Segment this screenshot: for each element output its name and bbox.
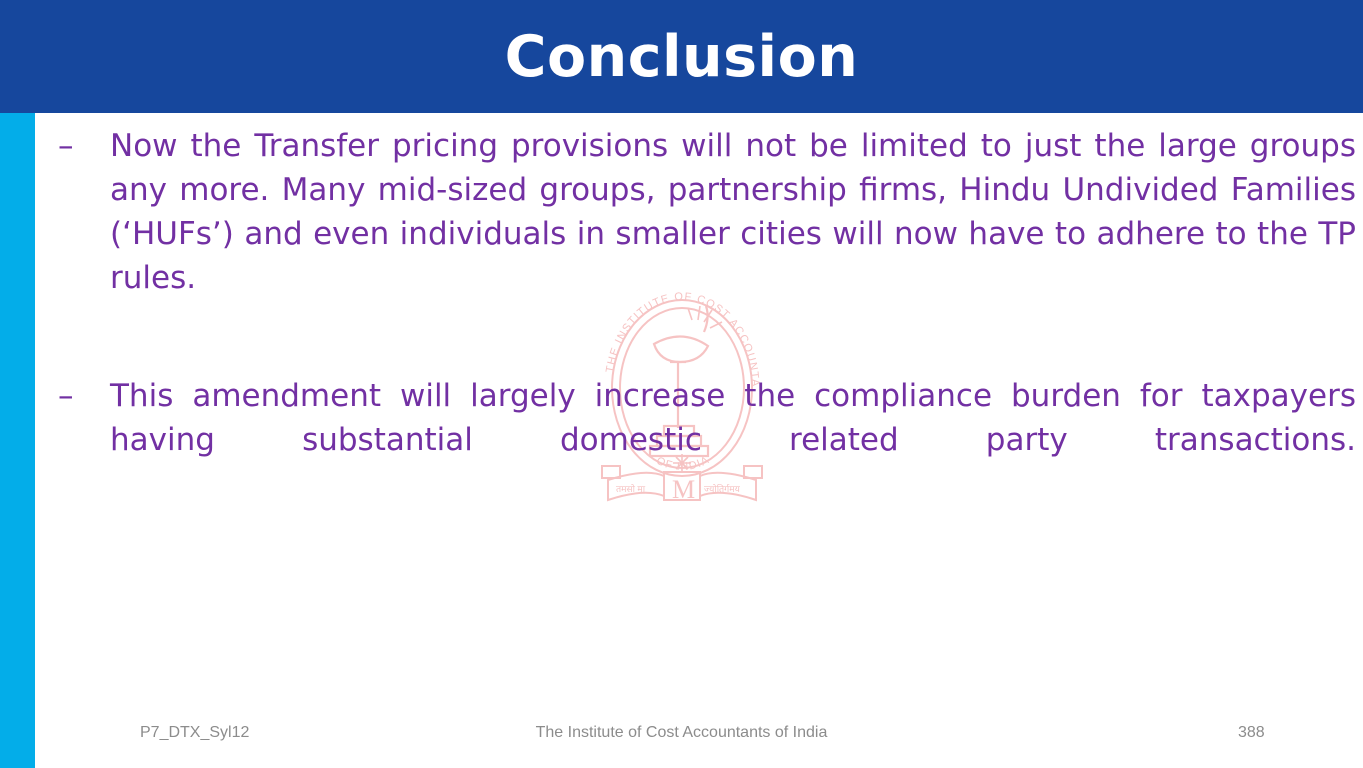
page-number: 388: [1238, 718, 1265, 748]
slide-title-bar: Conclusion: [0, 0, 1363, 113]
presentation-slide: Conclusion THE INSTITUTE OF COST ACCOUNT…: [0, 0, 1363, 768]
bullet-dash-icon: –: [58, 374, 110, 418]
slide-body: – Now the Transfer pricing provisions wi…: [58, 124, 1356, 506]
bullet-dash-icon: –: [58, 124, 110, 168]
page-title: Conclusion: [505, 29, 859, 86]
list-item: – Now the Transfer pricing provisions wi…: [58, 124, 1356, 344]
footer-institute-name: The Institute of Cost Accountants of Ind…: [0, 718, 1363, 748]
list-item-text: Now the Transfer pricing provisions will…: [110, 124, 1356, 344]
left-accent-stripe: [0, 113, 35, 768]
slide-footer: P7_DTX_Syl12 The Institute of Cost Accou…: [0, 718, 1363, 748]
list-item-text: This amendment will largely increase the…: [110, 374, 1356, 506]
list-item: – This amendment will largely increase t…: [58, 374, 1356, 506]
